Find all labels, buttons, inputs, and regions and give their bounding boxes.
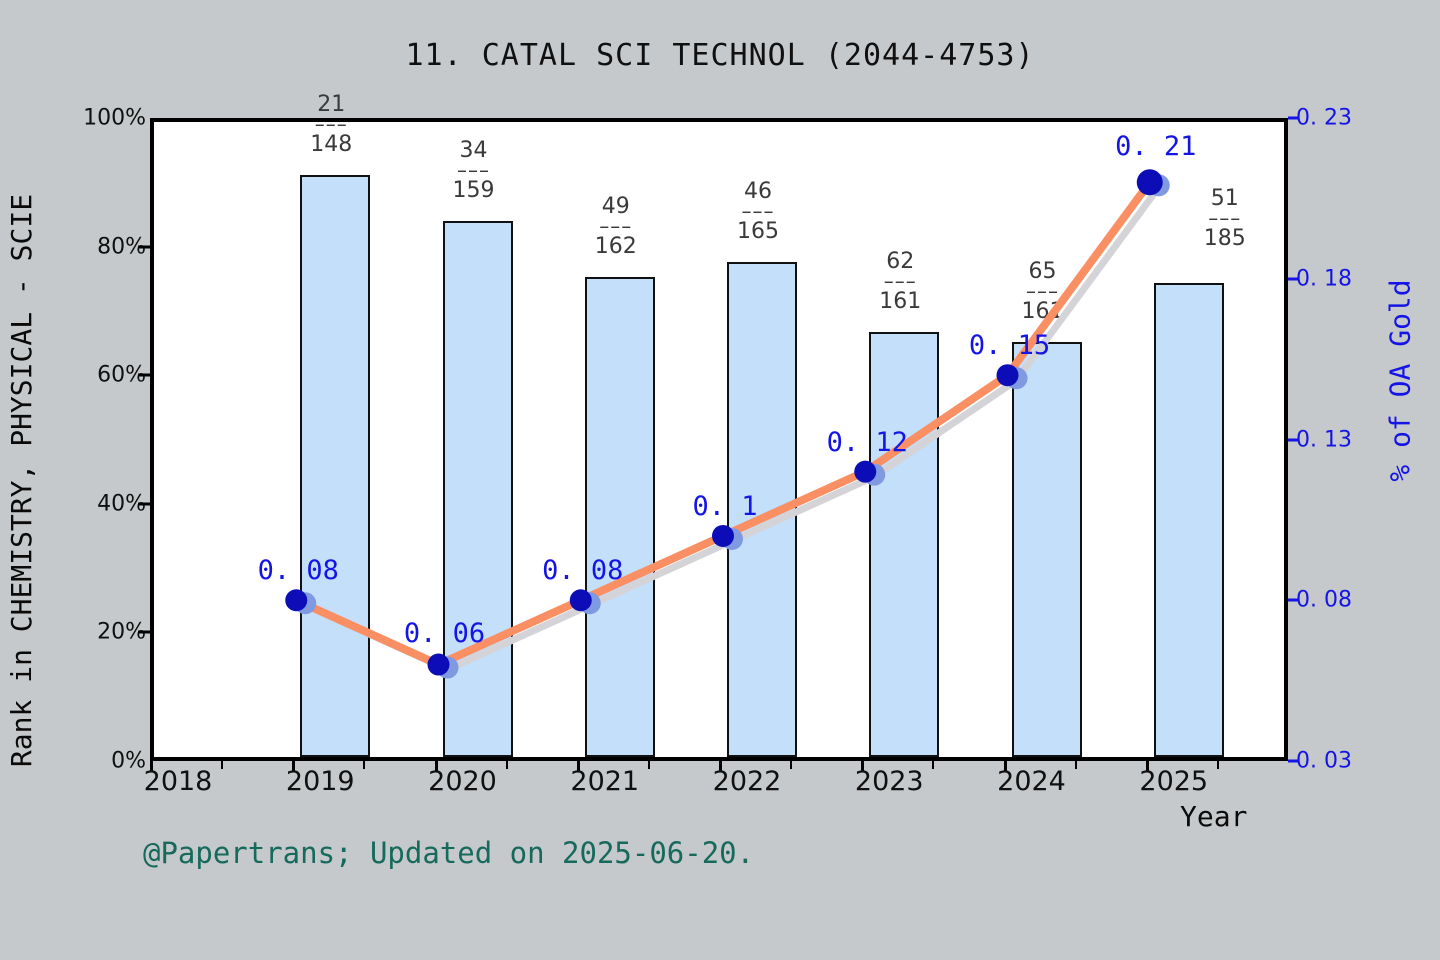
bar-2020	[443, 221, 513, 757]
bar-rank-denominator: 162	[595, 235, 637, 258]
x-axis-tick-label: 2021	[570, 766, 639, 797]
x-axis-tick-label: 2020	[428, 766, 497, 797]
y-axis-right-tick-mark	[1288, 599, 1299, 602]
x-axis-minor-tick-mark	[221, 761, 223, 769]
x-axis-minor-tick-mark	[1075, 761, 1077, 769]
bar-value-label-2020: 34–––159	[453, 139, 495, 202]
x-axis-tick-label: 2019	[286, 766, 355, 797]
oa-gold-point-label-2024: 0. 15	[969, 330, 1050, 361]
x-axis-minor-tick-mark	[1217, 761, 1219, 769]
plot-inner	[154, 122, 1284, 757]
y-axis-right-tick-label: 0. 08	[1296, 588, 1352, 613]
y-axis-right-tick-label: 0. 03	[1296, 749, 1352, 774]
x-axis-title: Year	[1180, 800, 1247, 833]
bar-rank-denominator: 161	[879, 290, 921, 313]
bar-2023	[869, 332, 939, 757]
x-axis-minor-tick-mark	[506, 761, 508, 769]
bar-2021	[585, 277, 655, 757]
chart-canvas: 11. CATAL SCI TECHNOL (2044-4753) Rank i…	[0, 0, 1440, 960]
plot-area	[150, 118, 1288, 761]
y-axis-left-title: Rank in CHEMISTRY, PHYSICAL - SCIE	[0, 0, 52, 960]
x-axis-minor-tick-mark	[790, 761, 792, 769]
bar-rank-denominator: 185	[1204, 227, 1246, 250]
bar-2024	[1012, 342, 1082, 757]
oa-gold-point-label-2019: 0. 08	[258, 555, 339, 586]
oa-gold-point-label-2022: 0. 1	[692, 491, 757, 522]
y-axis-right-tick-label: 0. 13	[1296, 427, 1352, 452]
x-axis-tick-label: 2024	[997, 766, 1066, 797]
bar-2019	[300, 175, 370, 757]
bar-value-label-2021: 49–––162	[595, 195, 637, 258]
y-axis-right-tick-mark	[1288, 438, 1299, 441]
oa-gold-point-label-2020: 0. 06	[404, 618, 485, 649]
y-axis-right-tick-mark	[1288, 760, 1299, 763]
x-axis-tick-label: 2022	[713, 766, 782, 797]
bar-value-label-2025: 51–––185	[1204, 187, 1246, 250]
oa-gold-point-label-2021: 0. 08	[542, 555, 623, 586]
bar-value-label-2022: 46–––165	[737, 180, 779, 243]
y-axis-right-title: % of OA Gold	[1370, 100, 1430, 660]
bar-value-label-2024: 65–––161	[1022, 260, 1064, 323]
y-axis-left-tick-label: 100%	[83, 106, 146, 131]
y-axis-left-tick-label: 0%	[111, 749, 146, 774]
bar-2025	[1154, 283, 1224, 757]
x-axis-minor-tick-mark	[648, 761, 650, 769]
y-axis-right-title-text: % of OA Gold	[1384, 279, 1417, 481]
bar-value-label-2019: 21–––148	[310, 93, 352, 156]
chart-title: 11. CATAL SCI TECHNOL (2044-4753)	[0, 38, 1440, 73]
oa-gold-point-label-2025: 0. 21	[1115, 131, 1196, 162]
bar-rank-denominator: 159	[453, 179, 495, 202]
footer-credit: @Papertrans; Updated on 2025-06-20.	[143, 836, 754, 870]
oa-gold-point-label-2023: 0. 12	[827, 427, 908, 458]
x-axis-tick-label: 2018	[144, 766, 213, 797]
y-axis-left-title-text: Rank in CHEMISTRY, PHYSICAL - SCIE	[6, 193, 39, 766]
x-axis-minor-tick-mark	[932, 761, 934, 769]
bar-value-label-2023: 62–––161	[879, 250, 921, 313]
x-axis-minor-tick-mark	[363, 761, 365, 769]
y-axis-right-tick-mark	[1288, 117, 1299, 120]
y-axis-right-tick-mark	[1288, 277, 1299, 280]
bar-rank-denominator: 161	[1022, 300, 1064, 323]
bar-rank-denominator: 148	[310, 133, 352, 156]
y-axis-right-tick-label: 0. 18	[1296, 266, 1352, 291]
bar-rank-denominator: 165	[737, 220, 779, 243]
x-axis-tick-label: 2023	[855, 766, 924, 797]
y-axis-right-tick-label: 0. 23	[1296, 106, 1352, 131]
x-axis-tick-label: 2025	[1139, 766, 1208, 797]
